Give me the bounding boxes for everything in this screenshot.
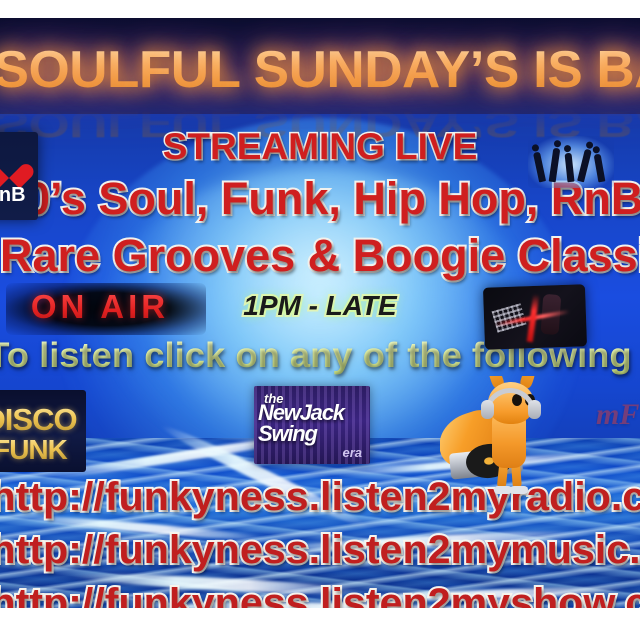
stream-link-music[interactable]: http://funkyness.listen2mymusic.com (0, 526, 640, 574)
dancer-silhouette (549, 148, 561, 183)
dancer-silhouette (594, 154, 606, 183)
red-script-text: mF (596, 402, 640, 428)
red-script-mark: mF (596, 396, 640, 472)
disco-funk-line-1: DISCO (0, 402, 86, 438)
on-air-label: ON AIR (0, 288, 200, 326)
poster-artwork: SOULFUL SUNDAY’S IS BACK SOULFUL SUNDAY’… (0, 18, 640, 608)
disco-funk-line-2: FUNK (0, 434, 86, 466)
time-slot-label: 1PM - LATE (210, 290, 430, 322)
night-sky-background (0, 18, 640, 122)
headphone-cup (481, 400, 494, 419)
new-jack-swing-era-logo: the NewJack Swing era (254, 386, 370, 464)
flyer-poster: SOULFUL SUNDAY’S IS BACK SOULFUL SUNDAY’… (0, 0, 640, 640)
dancer-silhouette (533, 152, 546, 183)
heart-icon (0, 154, 24, 181)
mascot-foot (510, 486, 528, 494)
genres-line-2: Rare Grooves & Boogie Classics (0, 230, 640, 282)
njs-main-label: NewJack Swing (258, 402, 370, 444)
dancer-silhouette (577, 149, 592, 183)
disco-funk-logo: DISCO FUNK (0, 390, 86, 472)
dancing-silhouettes-image (528, 136, 614, 188)
squirrel-dj-mascot (440, 376, 550, 494)
njs-era-label: era (342, 445, 362, 460)
i-love-rnb-logo: RnB (0, 132, 38, 220)
rnb-logo-label: RnB (0, 184, 38, 207)
dancer-silhouette (565, 153, 575, 183)
headphone-cup (528, 400, 541, 419)
stream-link-show[interactable]: http://funkyness.listen2myshow.com (0, 579, 640, 608)
dj-turntable-neon-photo (483, 284, 587, 350)
